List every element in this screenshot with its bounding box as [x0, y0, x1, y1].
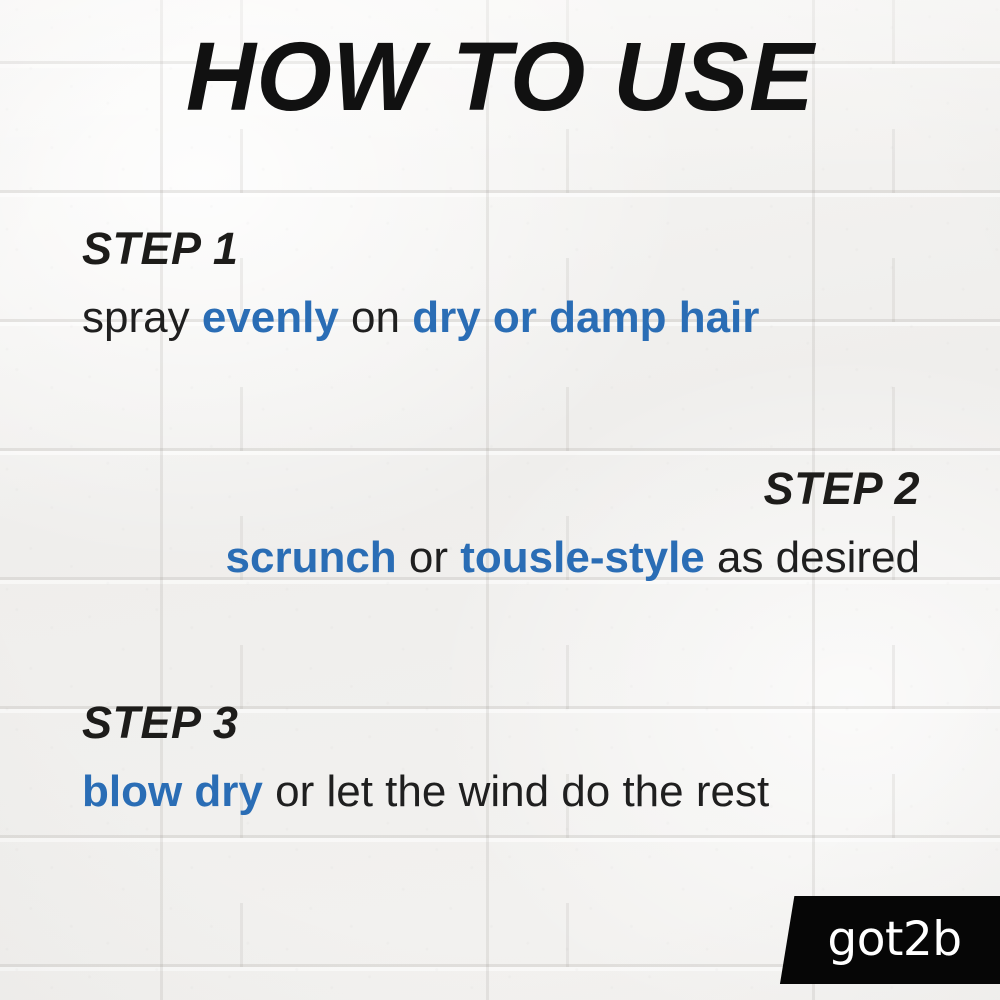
- plain-text: on: [339, 293, 412, 342]
- highlighted-text: dry or damp hair: [412, 293, 759, 342]
- plain-text: spray: [82, 293, 202, 342]
- highlighted-text: scrunch: [226, 533, 397, 582]
- page-title: HOW TO USE: [0, 28, 1000, 125]
- highlighted-text: tousle-style: [460, 533, 705, 582]
- got2b-logo-text: got2b: [813, 916, 961, 965]
- highlighted-text: blow dry: [82, 767, 263, 816]
- step-1-instruction: spray evenly on dry or damp hair: [82, 293, 759, 342]
- plain-text: or let the wind do the rest: [263, 767, 769, 816]
- step-block-3: STEP 3 blow dry or let the wind do the r…: [82, 700, 769, 816]
- got2b-logo-badge: got2b: [775, 896, 1000, 984]
- step-3-instruction: blow dry or let the wind do the rest: [82, 767, 769, 816]
- highlighted-text: evenly: [202, 293, 339, 342]
- step-1-label: STEP 1: [82, 226, 759, 271]
- poster-content: HOW TO USE STEP 1 spray evenly on dry or…: [0, 0, 1000, 1000]
- step-block-1: STEP 1 spray evenly on dry or damp hair: [82, 226, 759, 342]
- step-3-label: STEP 3: [82, 700, 769, 745]
- poster-canvas: HOW TO USE STEP 1 spray evenly on dry or…: [0, 0, 1000, 1000]
- plain-text: as desired: [705, 533, 920, 582]
- step-block-2: STEP 2 scrunch or tousle-style as desire…: [226, 466, 921, 582]
- step-2-label: STEP 2: [226, 466, 921, 511]
- step-2-instruction: scrunch or tousle-style as desired: [226, 533, 921, 582]
- plain-text: or: [397, 533, 461, 582]
